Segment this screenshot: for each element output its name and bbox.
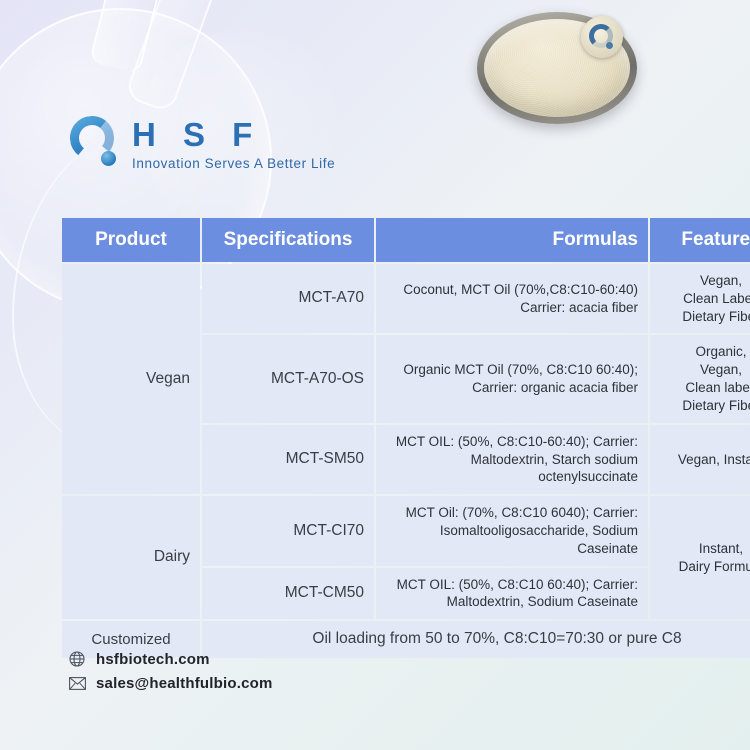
contact-info: hsfbiotech.com sales@healthfulbio.com [68,647,273,695]
contact-website-row[interactable]: hsfbiotech.com [68,647,273,671]
brand-logo: H S F Innovation Serves A Better Life [68,116,335,172]
cell-formula: Organic MCT Oil (70%, C8:C10 60:40); Car… [376,335,648,422]
cell-specification: MCT-CI70 [202,496,374,565]
photo-watermark-logo-icon [581,16,623,58]
table-header-row: Product Specifications Formulas Features [62,218,750,262]
hsf-ring-logo-icon [68,116,124,172]
cell-formula: MCT OIL: (50%, C8:C10-60:40); Carrier: M… [376,425,648,494]
column-header-features: Features [650,218,750,262]
cell-formula: MCT OIL: (50%, C8:C10 60:40); Carrier: M… [376,568,648,620]
envelope-icon [68,674,86,692]
cell-features: Vegan, Instant [650,425,750,494]
website-text: hsfbiotech.com [96,651,210,668]
cell-specification: MCT-SM50 [202,425,374,494]
cell-formula: MCT Oil: (70%, C8:C10 6040); Carrier: Is… [376,496,648,565]
brand-tagline: Innovation Serves A Better Life [132,157,335,171]
flask-neck-watermark-icon [89,0,173,74]
product-spec-poster: H S F Innovation Serves A Better Life Pr… [0,0,750,750]
logo-dot [101,151,116,166]
cell-features: Vegan, Clean Label, Dietary Fiber [650,264,750,333]
table-header: Product Specifications Formulas Features [62,218,750,262]
cell-product-group: Vegan [62,264,200,494]
contact-email-row[interactable]: sales@healthfulbio.com [68,671,273,695]
table-body: Vegan MCT-A70 Coconut, MCT Oil (70%,C8:C… [62,264,750,658]
table-row: Vegan MCT-A70 Coconut, MCT Oil (70%,C8:C… [62,264,750,333]
table-row: Dairy MCT-CI70 MCT Oil: (70%, C8:C10 604… [62,496,750,565]
product-specification-table: Product Specifications Formulas Features… [60,216,750,660]
column-header-formulas: Formulas [376,218,648,262]
brand-text: H S F Innovation Serves A Better Life [132,116,335,171]
product-photo [477,12,637,130]
cell-customized-value: Oil loading from 50 to 70%, C8:C10=70:30… [202,621,750,657]
photo-logo-dot [606,42,613,49]
cell-formula: Coconut, MCT Oil (70%,C8:C10-60:40) Carr… [376,264,648,333]
cell-features: Instant, Dairy Formula [650,496,750,619]
cell-specification: MCT-A70-OS [202,335,374,422]
email-text: sales@healthfulbio.com [96,675,273,692]
brand-name: H S F [132,118,335,151]
globe-icon [68,650,86,668]
cell-product-group: Dairy [62,496,200,619]
cell-specification: MCT-CM50 [202,568,374,620]
column-header-product: Product [62,218,200,262]
cell-features: Organic, Vegan, Clean label, Dietary Fib… [650,335,750,422]
cell-specification: MCT-A70 [202,264,374,333]
test-tube-watermark-icon [124,0,226,114]
column-header-specifications: Specifications [202,218,374,262]
